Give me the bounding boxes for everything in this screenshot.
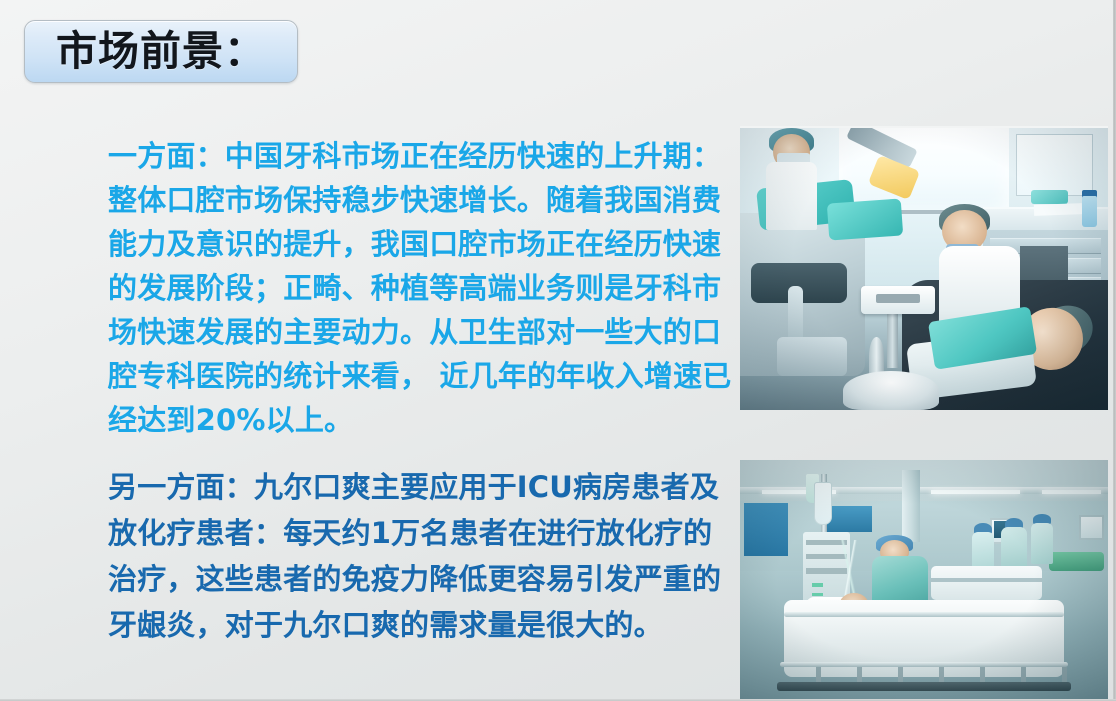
dental-photo-vignette: [740, 128, 1108, 410]
icu-photo-vignette: [740, 460, 1108, 701]
section-title-box: 市场前景：: [24, 20, 298, 83]
paragraph-one: 一方面：中国牙科市场正在经历快速的上升期：整体口腔市场保持稳步快速增长。随着我国…: [108, 134, 738, 442]
paragraph-two: 另一方面：九尔口爽主要应用于ICU病房患者及放化疗患者：每天约1万名患者在进行放…: [108, 464, 738, 648]
slide-canvas: 市场前景： 一方面：中国牙科市场正在经历快速的上升期：整体口腔市场保持稳步快速增…: [0, 0, 1116, 701]
dental-clinic-photo: [740, 126, 1108, 410]
page-title: 市场前景：: [56, 31, 266, 72]
icu-ward-photo: [740, 460, 1108, 701]
body-text-column: 一方面：中国牙科市场正在经历快速的上升期：整体口腔市场保持稳步快速增长。随着我国…: [108, 134, 738, 648]
